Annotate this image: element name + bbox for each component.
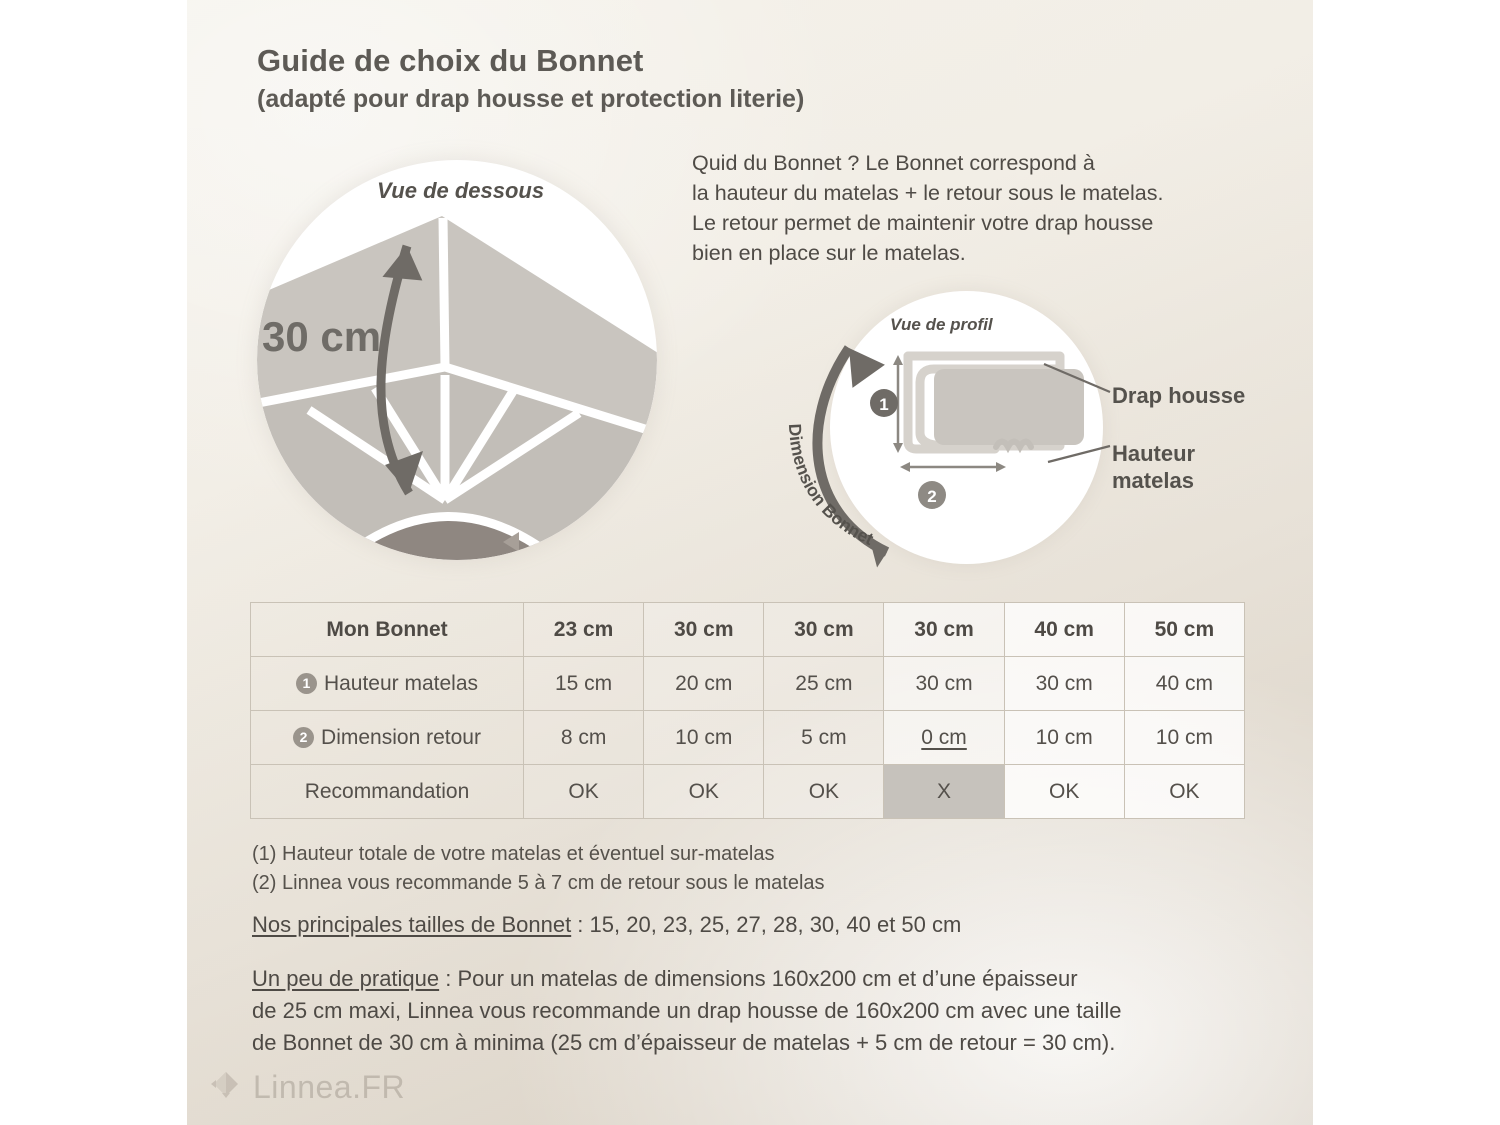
table-row-label-recommandation: Recommandation — [251, 765, 524, 819]
profile-view-label: Vue de profil — [890, 315, 993, 335]
table-cell-r2-c1: OK — [644, 765, 764, 819]
bottom-view-label: Vue de dessous — [377, 178, 544, 204]
intro-paragraph: Quid du Bonnet ? Le Bonnet correspond à … — [692, 148, 1262, 268]
logo-text: Linnea.FR — [253, 1069, 405, 1106]
page-subtitle: (adapté pour drap housse et protection l… — [257, 85, 804, 114]
table-cell-r2-c4: OK — [1004, 765, 1124, 819]
principal-sizes-line: Nos principales tailles de Bonnet : 15, … — [252, 912, 961, 938]
principal-sizes-label: Nos principales tailles de Bonnet — [252, 912, 571, 937]
table-cell-r1-c3-value: 0 cm — [921, 726, 967, 749]
page-title-block: Guide de choix du Bonnet (adapté pour dr… — [257, 44, 804, 113]
bonnet-size-table: Mon Bonnet 23 cm 30 cm 30 cm 30 cm 40 cm… — [250, 602, 1245, 819]
table-col-header-5: 50 cm — [1124, 603, 1244, 657]
row-label-text: Hauteur matelas — [324, 672, 478, 696]
measure-30cm-label: 30 cm — [262, 313, 381, 361]
row-badge-2: 2 — [293, 727, 314, 748]
intro-line-3: Le retour permet de maintenir votre drap… — [692, 208, 1262, 238]
infographic-canvas: Guide de choix du Bonnet (adapté pour dr… — [187, 0, 1313, 1125]
page-root: Guide de choix du Bonnet (adapté pour dr… — [0, 0, 1500, 1125]
practical-label: Un peu de pratique — [252, 966, 439, 991]
table-header-row: Mon Bonnet 23 cm 30 cm 30 cm 30 cm 40 cm… — [251, 603, 1245, 657]
table-cell-r0-c3: 30 cm — [884, 657, 1004, 711]
footnote-1: (1) Hauteur totale de votre matelas et é… — [252, 840, 825, 869]
table-header-row-label: Mon Bonnet — [251, 603, 524, 657]
table-row: Recommandation OK OK OK X OK OK — [251, 765, 1245, 819]
table-col-header-3: 30 cm — [884, 603, 1004, 657]
callout-hauteur-matelas: Hauteur matelas — [1112, 440, 1195, 494]
table-row-label-retour: 2 Dimension retour — [251, 711, 524, 765]
row-badge-1: 1 — [296, 673, 317, 694]
callout-hauteur-line-2: matelas — [1112, 467, 1195, 494]
table-cell-r0-c4: 30 cm — [1004, 657, 1124, 711]
table-row-label-hauteur: 1 Hauteur matelas — [251, 657, 524, 711]
intro-line-1: Quid du Bonnet ? Le Bonnet correspond à — [692, 148, 1262, 178]
table-cell-r2-c5: OK — [1124, 765, 1244, 819]
table-cell-r2-c0: OK — [524, 765, 644, 819]
linnea-logo[interactable]: Linnea.FR — [209, 1068, 405, 1107]
table-cell-r2-c3-warning: X — [884, 765, 1004, 819]
footnote-2: (2) Linnea vous recommande 5 à 7 cm de r… — [252, 869, 825, 898]
table-cell-r1-c2: 5 cm — [764, 711, 884, 765]
practical-line-1: Un peu de pratique : Pour un matelas de … — [252, 963, 1262, 995]
page-title: Guide de choix du Bonnet — [257, 44, 804, 79]
table-cell-r2-c2: OK — [764, 765, 884, 819]
table-row: 2 Dimension retour 8 cm 10 cm 5 cm 0 cm … — [251, 711, 1245, 765]
table-cell-r0-c5: 40 cm — [1124, 657, 1244, 711]
table-cell-r0-c0: 15 cm — [524, 657, 644, 711]
callout-drap-housse: Drap housse — [1112, 382, 1245, 409]
practical-line-3: de Bonnet de 30 cm à minima (25 cm d’épa… — [252, 1027, 1262, 1059]
table-body: 1 Hauteur matelas 15 cm 20 cm 25 cm 30 c… — [251, 657, 1245, 819]
table-row: 1 Hauteur matelas 15 cm 20 cm 25 cm 30 c… — [251, 657, 1245, 711]
table-col-header-2: 30 cm — [764, 603, 884, 657]
practical-line-2: de 25 cm maxi, Linnea vous recommande un… — [252, 995, 1262, 1027]
table-col-header-1: 30 cm — [644, 603, 764, 657]
callout-hauteur-line-1: Hauteur — [1112, 440, 1195, 467]
principal-sizes-values: : 15, 20, 23, 25, 27, 28, 30, 40 et 50 c… — [571, 912, 961, 937]
table-col-header-4: 40 cm — [1004, 603, 1124, 657]
table-cell-r1-c3: 0 cm — [884, 711, 1004, 765]
table-cell-r1-c5: 10 cm — [1124, 711, 1244, 765]
table-cell-r0-c2: 25 cm — [764, 657, 884, 711]
row-label-text: Dimension retour — [321, 726, 481, 750]
footnotes: (1) Hauteur totale de votre matelas et é… — [252, 840, 825, 898]
table-header: Mon Bonnet 23 cm 30 cm 30 cm 30 cm 40 cm… — [251, 603, 1245, 657]
table-cell-r1-c1: 10 cm — [644, 711, 764, 765]
table-col-header-0: 23 cm — [524, 603, 644, 657]
table-cell-r0-c1: 20 cm — [644, 657, 764, 711]
table-cell-r1-c0: 8 cm — [524, 711, 644, 765]
intro-line-2: la hauteur du matelas + le retour sous l… — [692, 178, 1262, 208]
practical-example-block: Un peu de pratique : Pour un matelas de … — [252, 963, 1262, 1059]
diamond-logo-icon — [209, 1068, 243, 1107]
intro-line-4: bien en place sur le matelas. — [692, 238, 1262, 268]
table-cell-r1-c4: 10 cm — [1004, 711, 1124, 765]
practical-line-1-rest: : Pour un matelas de dimensions 160x200 … — [439, 966, 1077, 991]
